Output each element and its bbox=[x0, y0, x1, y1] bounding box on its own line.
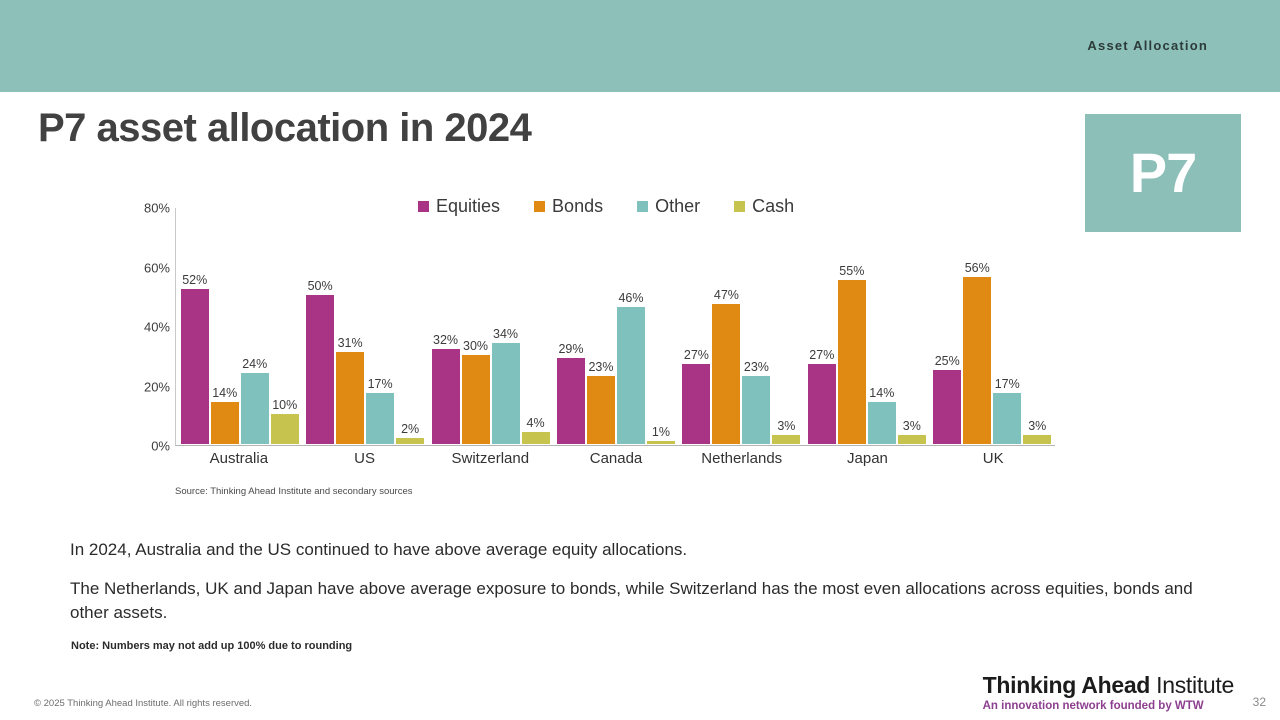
bar-group-netherlands: 27%47%23%3% bbox=[679, 208, 804, 444]
bar-value-label: 24% bbox=[242, 357, 267, 371]
bar-slot: 27% bbox=[808, 208, 836, 444]
bar-slot: 24% bbox=[241, 208, 269, 444]
bar-cash[interactable] bbox=[271, 414, 299, 444]
bar-slot: 30% bbox=[462, 208, 490, 444]
bar-other[interactable] bbox=[241, 373, 269, 444]
bar-value-label: 31% bbox=[338, 336, 363, 350]
bar-bonds[interactable] bbox=[963, 277, 991, 444]
bar-slot: 4% bbox=[522, 208, 550, 444]
bar-slot: 47% bbox=[712, 208, 740, 444]
bar-slot: 17% bbox=[366, 208, 394, 444]
bar-value-label: 4% bbox=[527, 416, 545, 430]
bar-value-label: 29% bbox=[558, 342, 583, 356]
bar-slot: 29% bbox=[557, 208, 585, 444]
bar-other[interactable] bbox=[617, 307, 645, 444]
bar-group-uk: 25%56%17%3% bbox=[930, 208, 1055, 444]
bar-value-label: 30% bbox=[463, 339, 488, 353]
bar-slot: 17% bbox=[993, 208, 1021, 444]
x-axis-tick-label: Japan bbox=[805, 450, 931, 467]
bar-other[interactable] bbox=[366, 393, 394, 444]
bar-group-japan: 27%55%14%3% bbox=[804, 208, 929, 444]
bar-slot: 14% bbox=[868, 208, 896, 444]
bar-slot: 2% bbox=[396, 208, 424, 444]
bar-cash[interactable] bbox=[898, 435, 926, 444]
bar-equities[interactable] bbox=[682, 364, 710, 444]
x-axis-tick-label: Switzerland bbox=[427, 450, 553, 467]
bar-value-label: 47% bbox=[714, 288, 739, 302]
bar-value-label: 14% bbox=[212, 386, 237, 400]
bar-value-label: 1% bbox=[652, 425, 670, 439]
bar-other[interactable] bbox=[492, 343, 520, 444]
rounding-note: Note: Numbers may not add up 100% due to… bbox=[71, 640, 352, 652]
bar-slot: 46% bbox=[617, 208, 645, 444]
bar-value-label: 23% bbox=[744, 360, 769, 374]
bar-slot: 23% bbox=[587, 208, 615, 444]
logo-wordmark-bold: Thinking Ahead bbox=[983, 672, 1150, 698]
bar-bonds[interactable] bbox=[712, 304, 740, 444]
bar-value-label: 46% bbox=[618, 291, 643, 305]
bar-other[interactable] bbox=[868, 402, 896, 444]
header-band: Asset Allocation bbox=[0, 0, 1280, 92]
bar-group-australia: 52%14%24%10% bbox=[177, 208, 302, 444]
body-paragraph: The Netherlands, UK and Japan have above… bbox=[70, 577, 1200, 626]
bar-slot: 56% bbox=[963, 208, 991, 444]
chart-x-axis-labels: AustraliaUSSwitzerlandCanadaNetherlandsJ… bbox=[176, 450, 1056, 467]
bar-slot: 52% bbox=[181, 208, 209, 444]
bar-slot: 32% bbox=[432, 208, 460, 444]
body-paragraph: In 2024, Australia and the US continued … bbox=[70, 538, 1200, 563]
logo-wordmark-light: Institute bbox=[1150, 672, 1234, 698]
bar-slot: 1% bbox=[647, 208, 675, 444]
bar-value-label: 52% bbox=[182, 273, 207, 287]
bar-equities[interactable] bbox=[181, 289, 209, 444]
y-axis-tick-label: 20% bbox=[144, 379, 170, 394]
bar-equities[interactable] bbox=[808, 364, 836, 444]
bar-slot: 23% bbox=[742, 208, 770, 444]
bar-value-label: 34% bbox=[493, 327, 518, 341]
bar-value-label: 14% bbox=[869, 386, 894, 400]
bar-bonds[interactable] bbox=[336, 352, 364, 444]
bar-other[interactable] bbox=[993, 393, 1021, 444]
bar-value-label: 56% bbox=[965, 261, 990, 275]
bar-equities[interactable] bbox=[432, 349, 460, 444]
bar-slot: 25% bbox=[933, 208, 961, 444]
asset-allocation-chart: EquitiesBondsOtherCash 0%20%40%60%80% 52… bbox=[118, 196, 1068, 506]
bar-slot: 3% bbox=[772, 208, 800, 444]
bar-cash[interactable] bbox=[647, 441, 675, 444]
y-axis-tick-label: 0% bbox=[151, 439, 170, 454]
x-axis-tick-label: Netherlands bbox=[679, 450, 805, 467]
page-number: 32 bbox=[1253, 695, 1266, 709]
bar-slot: 3% bbox=[898, 208, 926, 444]
bar-value-label: 10% bbox=[272, 398, 297, 412]
header-eyebrow-label: Asset Allocation bbox=[1087, 38, 1208, 53]
bar-value-label: 27% bbox=[684, 348, 709, 362]
bar-slot: 14% bbox=[211, 208, 239, 444]
bar-slot: 10% bbox=[271, 208, 299, 444]
bar-slot: 50% bbox=[306, 208, 334, 444]
p7-badge-label: P7 bbox=[1130, 145, 1197, 201]
bar-slot: 55% bbox=[838, 208, 866, 444]
thinking-ahead-institute-logo: Thinking Ahead Institute An innovation n… bbox=[983, 672, 1234, 712]
bar-value-label: 2% bbox=[401, 422, 419, 436]
bar-value-label: 23% bbox=[588, 360, 613, 374]
bar-other[interactable] bbox=[742, 376, 770, 444]
page-title: P7 asset allocation in 2024 bbox=[38, 106, 531, 151]
bar-slot: 31% bbox=[336, 208, 364, 444]
bar-cash[interactable] bbox=[396, 438, 424, 444]
bar-group-us: 50%31%17%2% bbox=[302, 208, 427, 444]
x-axis-tick-label: Canada bbox=[553, 450, 679, 467]
bar-bonds[interactable] bbox=[211, 402, 239, 444]
chart-y-axis: 0%20%40%60%80% bbox=[118, 208, 170, 446]
y-axis-tick-label: 60% bbox=[144, 260, 170, 275]
bar-bonds[interactable] bbox=[838, 280, 866, 444]
bar-slot: 34% bbox=[492, 208, 520, 444]
chart-plot-area: 52%14%24%10%50%31%17%2%32%30%34%4%29%23%… bbox=[175, 208, 1055, 446]
bar-value-label: 27% bbox=[809, 348, 834, 362]
x-axis-tick-label: UK bbox=[930, 450, 1056, 467]
logo-tagline: An innovation network founded by WTW bbox=[983, 700, 1234, 712]
x-axis-tick-label: US bbox=[302, 450, 428, 467]
p7-badge: P7 bbox=[1085, 114, 1241, 232]
bar-value-label: 17% bbox=[368, 377, 393, 391]
bar-value-label: 3% bbox=[1028, 419, 1046, 433]
bar-cash[interactable] bbox=[522, 432, 550, 444]
bar-value-label: 50% bbox=[308, 279, 333, 293]
bar-group-canada: 29%23%46%1% bbox=[553, 208, 678, 444]
bar-equities[interactable] bbox=[933, 370, 961, 444]
chart-bar-groups: 52%14%24%10%50%31%17%2%32%30%34%4%29%23%… bbox=[177, 208, 1055, 444]
bar-slot: 27% bbox=[682, 208, 710, 444]
bar-value-label: 25% bbox=[935, 354, 960, 368]
copyright-text: © 2025 Thinking Ahead Institute. All rig… bbox=[34, 698, 252, 709]
bar-value-label: 3% bbox=[903, 419, 921, 433]
bar-slot: 3% bbox=[1023, 208, 1051, 444]
bar-cash[interactable] bbox=[1023, 435, 1051, 444]
x-axis-tick-label: Australia bbox=[176, 450, 302, 467]
bar-value-label: 3% bbox=[777, 419, 795, 433]
bar-bonds[interactable] bbox=[587, 376, 615, 444]
body-text-block: In 2024, Australia and the US continued … bbox=[70, 538, 1200, 640]
chart-source-note: Source: Thinking Ahead Institute and sec… bbox=[175, 486, 412, 497]
bar-value-label: 55% bbox=[839, 264, 864, 278]
bar-value-label: 32% bbox=[433, 333, 458, 347]
bar-group-switzerland: 32%30%34%4% bbox=[428, 208, 553, 444]
bar-cash[interactable] bbox=[772, 435, 800, 444]
logo-wordmark: Thinking Ahead Institute bbox=[983, 672, 1234, 699]
y-axis-tick-label: 80% bbox=[144, 201, 170, 216]
bar-equities[interactable] bbox=[306, 295, 334, 444]
y-axis-tick-label: 40% bbox=[144, 320, 170, 335]
bar-equities[interactable] bbox=[557, 358, 585, 444]
bar-value-label: 17% bbox=[995, 377, 1020, 391]
bar-bonds[interactable] bbox=[462, 355, 490, 444]
